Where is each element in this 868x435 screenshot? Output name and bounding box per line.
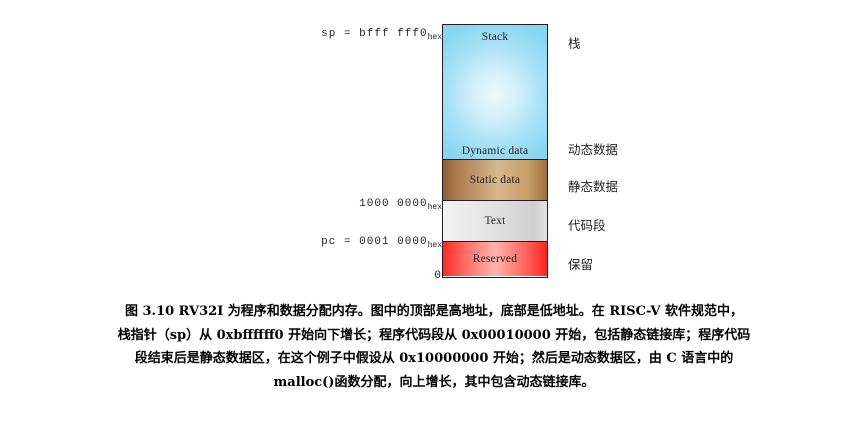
cn-label-stack: 栈	[568, 33, 581, 52]
address-label-pc: pc = 0001 0000hex	[321, 236, 442, 250]
cn-label-text-segment: 代码段	[568, 215, 606, 234]
address-label-static-start: 1000 0000hex	[359, 198, 442, 212]
memory-block-static-data: Static data	[443, 159, 547, 201]
address-zero-value: 0	[434, 270, 442, 282]
address-static-value: 1000 0000	[359, 198, 427, 210]
memory-layout-figure: sp = bfff fff0hex 1000 0000hex pc = 0001…	[0, 0, 868, 295]
stack-label: Stack	[443, 31, 547, 43]
address-pc-prefix: pc =	[321, 236, 359, 248]
address-pc-subscript: hex	[428, 241, 442, 250]
dynamic-data-label: Dynamic data	[443, 145, 547, 157]
figure-caption: 图 3.10 RV32I 为程序和数据分配内存。图中的顶部是高地址，底部是低地址…	[0, 300, 868, 394]
caption-line-3: 段结束后是静态数据区，在这个例子中假设从 0x10000000 开始；然后是动态…	[0, 347, 868, 371]
address-sp-value: bfff fff0	[359, 28, 427, 40]
caption-line-1: 图 3.10 RV32I 为程序和数据分配内存。图中的顶部是高地址，底部是低地址…	[0, 300, 868, 324]
reserved-label: Reserved	[443, 253, 547, 265]
memory-block-stack-dynamic: Stack Dynamic data	[443, 25, 547, 159]
cn-label-dynamic-data: 动态数据	[568, 139, 618, 158]
address-static-subscript: hex	[428, 203, 442, 212]
cn-label-static-data: 静态数据	[568, 176, 618, 195]
memory-column: Stack Dynamic data Static data Text Rese…	[442, 24, 548, 278]
cn-label-reserved: 保留	[568, 254, 593, 273]
address-sp-prefix: sp =	[321, 28, 359, 40]
address-sp-subscript: hex	[428, 33, 442, 42]
address-label-sp: sp = bfff fff0hex	[321, 28, 442, 42]
static-data-label: Static data	[443, 174, 547, 186]
caption-line-2: 栈指针（sp）从 0xbffffff0 开始向下增长；程序代码段从 0x0001…	[0, 324, 868, 348]
memory-block-text: Text	[443, 201, 547, 242]
address-pc-value: 0001 0000	[359, 236, 427, 248]
address-label-zero: 0	[434, 270, 442, 282]
caption-line-4: malloc()函数分配，向上增长，其中包含动态链接库。	[0, 371, 868, 395]
memory-block-reserved: Reserved	[443, 242, 547, 276]
text-segment-label: Text	[443, 215, 547, 227]
